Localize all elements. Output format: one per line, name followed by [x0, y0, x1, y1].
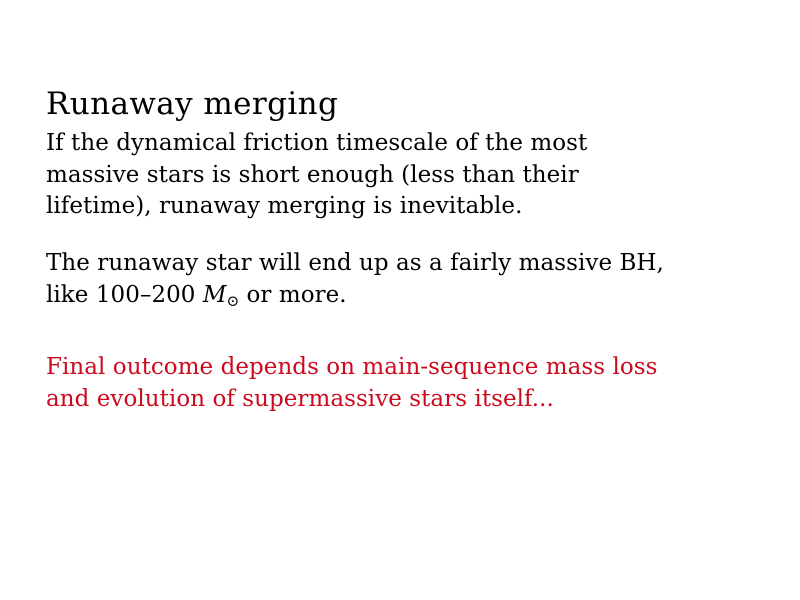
paragraph-line: massive stars is short enough (less than…: [46, 160, 686, 192]
paragraph-line: The runaway star will end up as a fairly…: [46, 248, 766, 280]
sun-subscript-icon: ⊙: [226, 291, 239, 309]
paragraph-runaway-star-mass: The runaway star will end up as a fairly…: [46, 248, 766, 317]
paragraph-line: If the dynamical friction timescale of t…: [46, 128, 686, 160]
paragraph-final-outcome-highlight: Final outcome depends on main-sequence m…: [46, 352, 746, 415]
paragraph-line: lifetime), runaway merging is inevitable…: [46, 191, 686, 223]
paragraph-line: and evolution of supermassive stars itse…: [46, 384, 746, 416]
math-variable-m: M: [203, 282, 227, 308]
math-line-prefix: like 100–200: [46, 282, 203, 308]
solar-mass-symbol: M⊙: [203, 282, 239, 308]
slide-title: Runaway merging: [46, 87, 338, 121]
paragraph-line-with-math: like 100–200 M⊙ or more.: [46, 280, 766, 317]
paragraph-dynamical-friction: If the dynamical friction timescale of t…: [46, 128, 686, 223]
math-line-suffix: or more.: [239, 282, 347, 308]
paragraph-line: Final outcome depends on main-sequence m…: [46, 352, 746, 384]
presentation-slide: Runaway merging If the dynamical frictio…: [0, 0, 800, 600]
